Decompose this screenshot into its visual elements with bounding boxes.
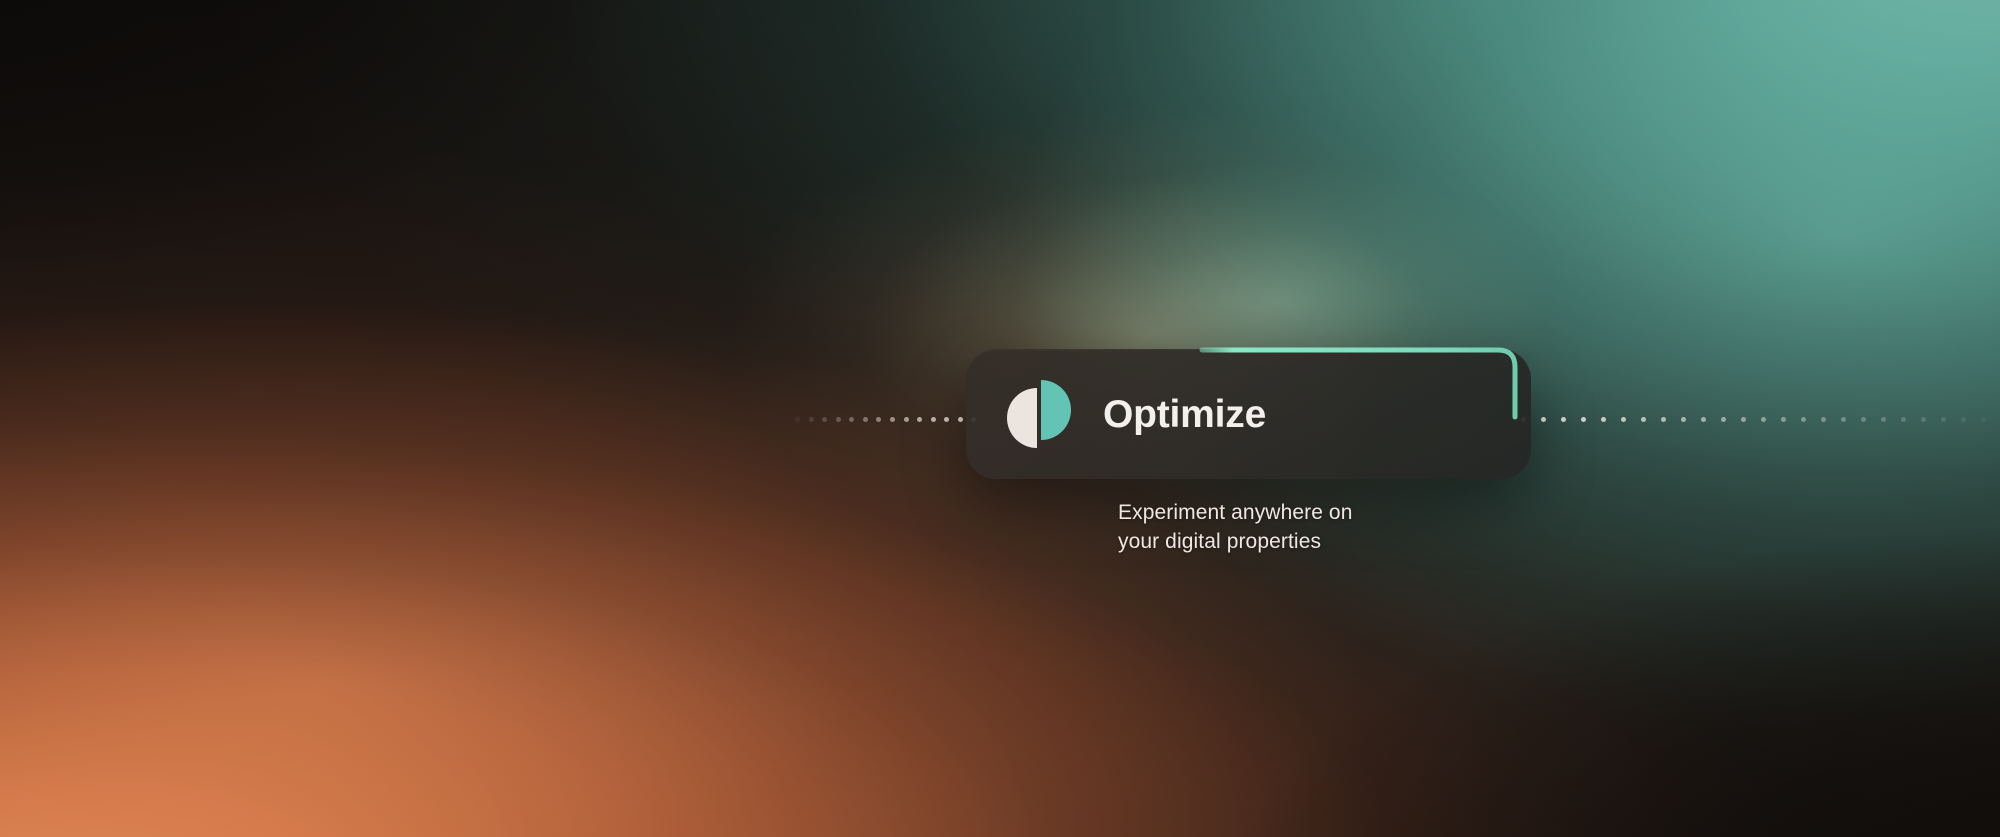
subtitle-line-2: your digital properties [1118, 528, 1468, 557]
connector-dots-right [1521, 417, 2000, 422]
card-subtitle: Experiment anywhere on your digital prop… [1118, 499, 1468, 556]
connector-dot [1861, 417, 1866, 422]
connector-dot [1901, 417, 1906, 422]
connector-dot [1981, 417, 1986, 422]
connector-dot [822, 417, 827, 422]
connector-dot [1601, 417, 1606, 422]
connector-dots-left [795, 417, 985, 422]
connector-dot [1681, 417, 1686, 422]
connector-dot [958, 417, 963, 422]
connector-dot [1841, 417, 1846, 422]
connector-dot [890, 417, 895, 422]
connector-dot [1921, 417, 1926, 422]
connector-dot [1941, 417, 1946, 422]
connector-dot [931, 417, 936, 422]
connector-dot [1781, 417, 1786, 422]
connector-dot [917, 417, 922, 422]
connector-dot [1641, 417, 1646, 422]
connector-dot [1961, 417, 1966, 422]
connector-dot [863, 417, 868, 422]
connector-dot [904, 417, 909, 422]
connector-dot [809, 417, 814, 422]
connector-dot [1621, 417, 1626, 422]
connector-dot [1741, 417, 1746, 422]
optimize-icon-left-half [1007, 388, 1037, 448]
optimize-card[interactable]: Optimize [966, 349, 1531, 479]
connector-dot [1761, 417, 1766, 422]
optimize-split-circle-icon [1007, 378, 1069, 450]
connector-dot [1801, 417, 1806, 422]
connector-dot [1541, 417, 1546, 422]
connector-dot [1701, 417, 1706, 422]
subtitle-line-1: Experiment anywhere on [1118, 499, 1468, 528]
card-title: Optimize [1103, 395, 1266, 434]
connector-dot [795, 417, 800, 422]
connector-dot [849, 417, 854, 422]
connector-dot [944, 417, 949, 422]
hero-canvas: Optimize Experiment anywhere on your dig… [0, 0, 2000, 837]
connector-dot [1661, 417, 1666, 422]
connector-dot [1581, 417, 1586, 422]
connector-dot [1561, 417, 1566, 422]
optimize-icon-right-half [1041, 380, 1071, 440]
connector-dot [1721, 417, 1726, 422]
connector-dot [836, 417, 841, 422]
connector-dot [876, 417, 881, 422]
connector-dot [1881, 417, 1886, 422]
connector-dot [1821, 417, 1826, 422]
